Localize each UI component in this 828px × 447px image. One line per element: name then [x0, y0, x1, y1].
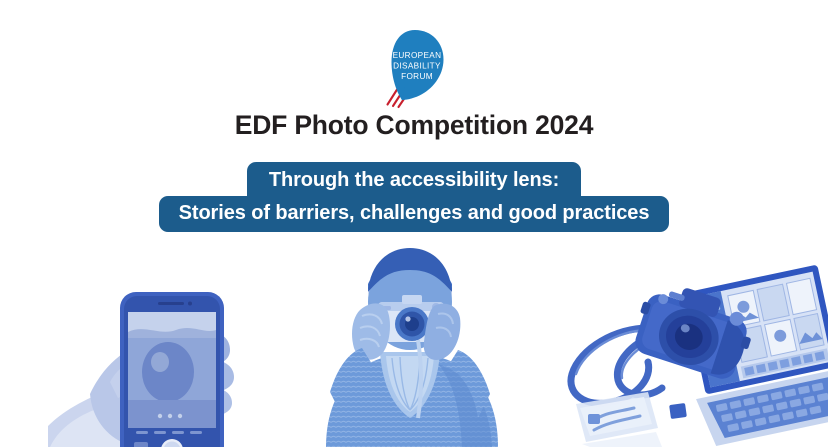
european-disability-forum-logo: EUROPEAN DISABILITY FORUM — [371, 24, 457, 110]
page-title: EDF Photo Competition 2024 — [0, 110, 828, 141]
logo-text-line-2: DISABILITY — [393, 62, 441, 71]
hand-holding-smartphone-camera — [48, 240, 276, 447]
photographer-with-camera — [286, 240, 534, 447]
dslr-camera-and-laptop — [552, 262, 828, 447]
banner-line-1: Through the accessibility lens: — [247, 162, 581, 197]
subtitle-banner: Through the accessibility lens: Stories … — [0, 162, 828, 232]
logo-text-line-1: EUROPEAN — [393, 51, 442, 60]
logo-text-line-3: FORUM — [401, 72, 433, 81]
photo-band — [0, 240, 828, 447]
banner-line-2: Stories of barriers, challenges and good… — [159, 196, 670, 232]
edf-photo-competition-poster: EUROPEAN DISABILITY FORUM EDF Photo Comp… — [0, 0, 828, 447]
logo-container: EUROPEAN DISABILITY FORUM — [0, 24, 828, 110]
